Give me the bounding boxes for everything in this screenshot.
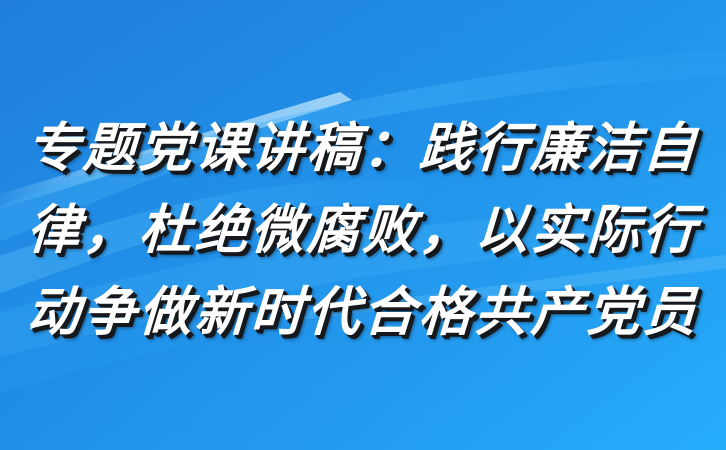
title-line-2-text: 律，杜绝微腐败，以实际行 <box>25 190 701 270</box>
title-line-1-text: 专题党课讲稿：践行廉洁自 <box>25 108 701 188</box>
title-line-3-text: 动争做新时代合格共产党员 <box>25 272 701 352</box>
title-line-3: 动争做新时代合格共产党员 <box>0 270 726 352</box>
title-block: 专题党课讲稿：践行廉洁自 律，杜绝微腐败，以实际行 动争做新时代合格共产党员 <box>0 0 726 450</box>
title-line-1: 专题党课讲稿：践行廉洁自 <box>0 106 726 188</box>
title-line-2: 律，杜绝微腐败，以实际行 <box>0 188 726 270</box>
banner-root: 专题党课讲稿：践行廉洁自 律，杜绝微腐败，以实际行 动争做新时代合格共产党员 <box>0 0 726 450</box>
